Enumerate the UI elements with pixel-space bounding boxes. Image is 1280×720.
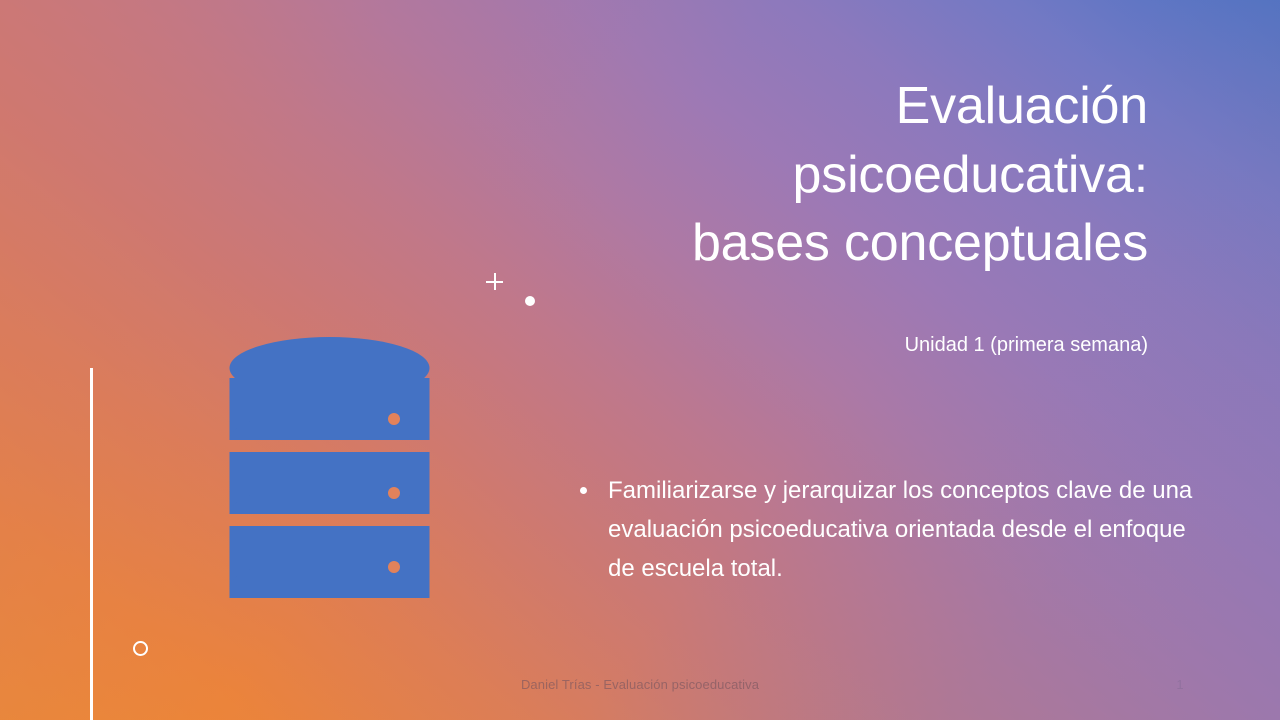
bullet-marker-icon <box>580 487 587 494</box>
list-item: Familiarizarse y jerarquizar los concept… <box>575 472 1200 589</box>
vertical-accent-line <box>90 368 93 720</box>
body-content: Familiarizarse y jerarquizar los concept… <box>575 472 1200 589</box>
presentation-slide: Evaluación psicoeducativa: bases concept… <box>0 0 1280 720</box>
database-stack-icon <box>222 330 437 602</box>
list-item-label: Familiarizarse y jerarquizar los concept… <box>608 477 1192 582</box>
bullet-list: Familiarizarse y jerarquizar los concept… <box>575 472 1200 589</box>
ring-mark-icon <box>133 641 148 656</box>
plus-mark-icon <box>486 273 503 290</box>
slide-footer: Daniel Trías - Evaluación psicoeducativa <box>0 677 1280 692</box>
page-title: Evaluación psicoeducativa: bases concept… <box>528 72 1148 278</box>
title-block: Evaluación psicoeducativa: bases concept… <box>528 72 1148 278</box>
page-number: 1 <box>1150 677 1210 692</box>
slide-subtitle: Unidad 1 (primera semana) <box>528 332 1148 358</box>
dot-mark-icon <box>525 296 535 306</box>
